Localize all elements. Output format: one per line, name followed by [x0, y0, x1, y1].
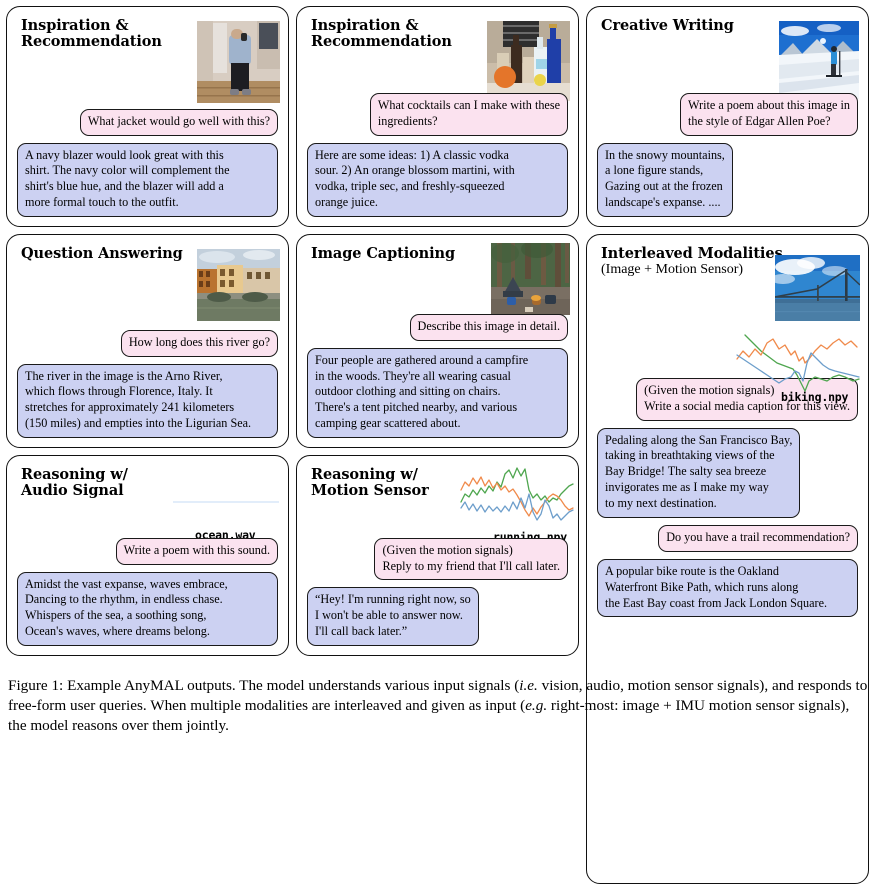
snowy-mountain-skier-photo [779, 21, 859, 99]
column-middle: Inspiration & Recommendation [296, 6, 579, 884]
bay-bridge-photo [775, 255, 860, 321]
assistant-message-bubble[interactable]: A navy blazer would look great with this… [17, 143, 278, 217]
panel-inspiration-recommendation-jacket: Inspiration & Recommendation [6, 6, 289, 227]
panel-creative-writing: Creative Writing [586, 6, 869, 227]
signal-filename-label: biking.npy [781, 390, 848, 404]
panel-title: Inspiration & Recommendation [311, 18, 479, 50]
panel-interleaved-modalities: Interleaved Modalities (Image + Motion S… [586, 234, 869, 884]
user-message-bubble[interactable]: Write a poem about this image in the sty… [680, 93, 858, 136]
panel-title-line2: Recommendation [21, 33, 162, 50]
message-row-user: What jacket would go well with this? [17, 109, 278, 136]
panel-title-line2: Motion Sensor [311, 482, 429, 499]
assistant-message-bubble[interactable]: “Hey! I'm running right now, so I won't … [307, 587, 479, 646]
message-row-assistant: A popular bike route is the Oakland Wate… [597, 559, 858, 618]
figure-caption-em-1: i.e. [519, 677, 538, 694]
panel-grid: Inspiration & Recommendation [6, 6, 869, 884]
conversation: (Given the motion signals) Reply to my f… [307, 538, 568, 646]
forest-campfire-photo [491, 243, 570, 315]
assistant-message-bubble[interactable]: The river in the image is the Arno River… [17, 364, 278, 438]
panel-title-line1: Creative Writing [601, 17, 734, 34]
motion-sensor-plot [459, 464, 574, 526]
message-row-user: (Given the motion signals) Reply to my f… [307, 538, 568, 581]
panel-title: Reasoning w/ Audio Signal [21, 467, 189, 499]
user-message-bubble[interactable]: What cocktails can I make with these ing… [370, 93, 568, 136]
panel-title-line1: Inspiration & [311, 17, 418, 34]
figure-container: Inspiration & Recommendation [0, 0, 875, 778]
panel-title: Inspiration & Recommendation [21, 18, 189, 50]
user-message-bubble[interactable]: What jacket would go well with this? [80, 109, 278, 136]
message-row-user: Write a poem with this sound. [17, 538, 278, 565]
panel-title-line1: Reasoning w/ [311, 466, 418, 483]
message-row-assistant: “Hey! I'm running right now, so I won't … [307, 587, 568, 646]
panel-title-line1: Question Answering [21, 245, 183, 262]
panel-title-line1: Reasoning w/ [21, 466, 128, 483]
assistant-message-bubble[interactable]: A popular bike route is the Oakland Wate… [597, 559, 858, 618]
panel-title-line1: Inspiration & [21, 17, 128, 34]
panel-question-answering: Question Answering [6, 234, 289, 448]
column-left: Inspiration & Recommendation [6, 6, 289, 884]
conversation: Write a poem with this sound. Amidst the… [17, 538, 278, 646]
message-row-user: What cocktails can I make with these ing… [307, 93, 568, 136]
figure-caption-text-1: Example AnyMAL outputs. The model unders… [63, 677, 519, 694]
panel-title: Image Captioning [311, 246, 479, 262]
message-row-assistant: In the snowy mountains, a lone figure st… [597, 143, 858, 217]
conversation: (Given the motion signals) Write a socia… [597, 378, 858, 617]
panel-title-line2: Audio Signal [21, 482, 124, 499]
message-row-assistant: Pedaling along the San Francisco Bay, ta… [597, 428, 858, 518]
panel-title: Creative Writing [601, 18, 769, 34]
user-message-bubble[interactable]: (Given the motion signals) Reply to my f… [374, 538, 568, 581]
biking-motion-sensor-plot [735, 333, 860, 395]
conversation: What jacket would go well with this? A n… [17, 109, 278, 217]
panel-reasoning-audio-signal: Reasoning w/ Audio Signal [6, 455, 289, 656]
message-row-assistant: The river in the image is the Arno River… [17, 364, 278, 438]
conversation: Describe this image in detail. Four peop… [307, 314, 568, 438]
message-row-assistant: Amidst the vast expanse, waves embrace, … [17, 572, 278, 646]
panel-title-line1: Image Captioning [311, 245, 455, 262]
panel-title: Question Answering [21, 246, 189, 262]
panel-title-line2: Recommendation [311, 33, 452, 50]
panel-title: Reasoning w/ Motion Sensor [311, 467, 479, 499]
conversation: How long does this river go? The river i… [17, 330, 278, 438]
user-message-bubble[interactable]: Do you have a trail recommendation? [658, 525, 858, 552]
message-row-assistant: A navy blazer would look great with this… [17, 143, 278, 217]
panel-image-captioning: Image Captioning [296, 234, 579, 448]
ponte-vecchio-river-photo [197, 249, 280, 321]
message-row-user: How long does this river go? [17, 330, 278, 357]
column-right: Creative Writing [586, 6, 869, 884]
assistant-message-bubble[interactable]: In the snowy mountains, a lone figure st… [597, 143, 733, 217]
message-row-user: Write a poem about this image in the sty… [597, 93, 858, 136]
conversation: Write a poem about this image in the sty… [597, 93, 858, 217]
message-row-user: Describe this image in detail. [307, 314, 568, 341]
user-message-bubble[interactable]: How long does this river go? [121, 330, 278, 357]
mirror-selfie-shirt-photo [197, 21, 280, 103]
figure-caption-label: Figure 1: [8, 677, 63, 694]
assistant-message-bubble[interactable]: Four people are gathered around a campfi… [307, 348, 568, 438]
conversation: What cocktails can I make with these ing… [307, 93, 568, 217]
figure-caption-em-2: e.g. [525, 697, 547, 714]
assistant-message-bubble[interactable]: Pedaling along the San Francisco Bay, ta… [597, 428, 800, 518]
bottles-and-fruit-photo [487, 21, 570, 101]
assistant-message-bubble[interactable]: Amidst the vast expanse, waves embrace, … [17, 572, 278, 646]
message-row-assistant: Four people are gathered around a campfi… [307, 348, 568, 438]
user-message-bubble[interactable]: Write a poem with this sound. [116, 538, 278, 565]
panel-title-line1: Interleaved Modalities [601, 245, 783, 262]
panel-reasoning-motion-sensor: Reasoning w/ Motion Sensor running.npy [296, 455, 579, 656]
panel-inspiration-recommendation-cocktail: Inspiration & Recommendation [296, 6, 579, 227]
figure-caption: Figure 1: Example AnyMAL outputs. The mo… [8, 676, 868, 735]
user-message-bubble[interactable]: Describe this image in detail. [410, 314, 568, 341]
assistant-message-bubble[interactable]: Here are some ideas: 1) A classic vodka … [307, 143, 568, 217]
audio-waveform [169, 478, 284, 526]
message-row-user: Do you have a trail recommendation? [597, 525, 858, 552]
message-row-assistant: Here are some ideas: 1) A classic vodka … [307, 143, 568, 217]
